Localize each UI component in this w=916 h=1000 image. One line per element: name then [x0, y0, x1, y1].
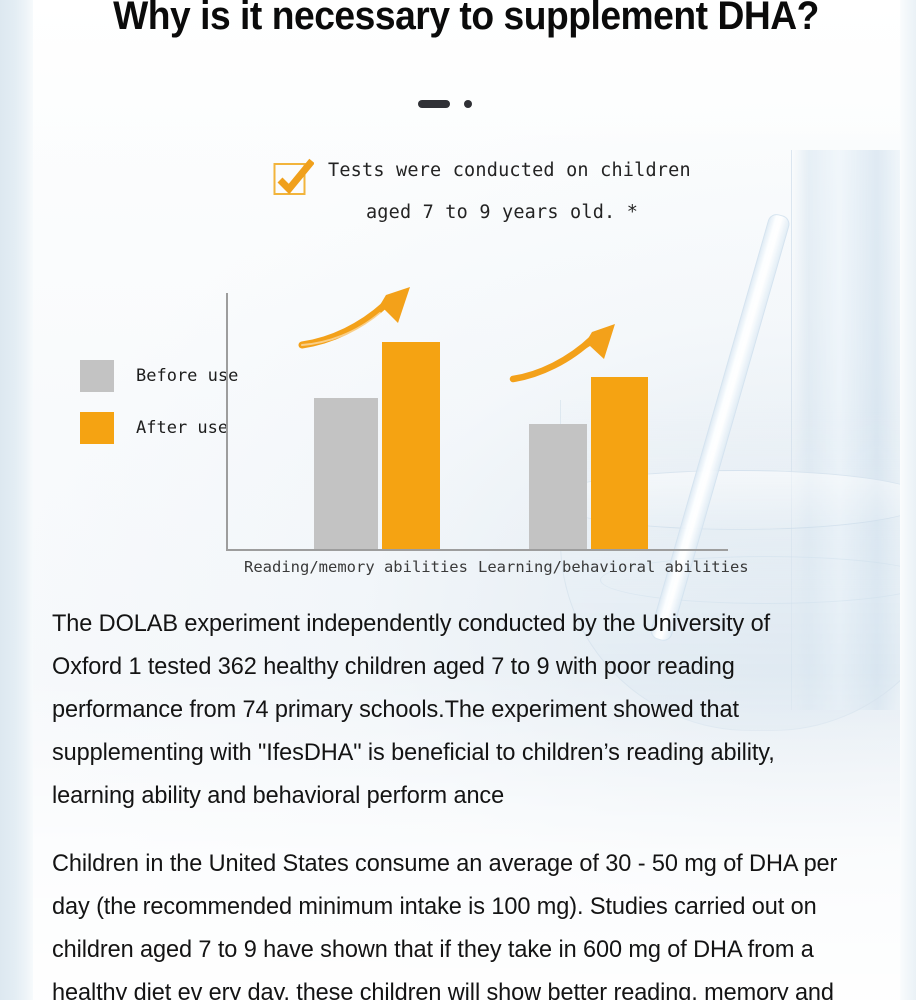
legend-swatch-after-icon [80, 412, 114, 444]
legend-item-before: Before use [80, 350, 238, 402]
paragraph-dolab-experiment: The DOLAB experiment independently condu… [52, 602, 839, 817]
page-title: Why is it necessary to supplement DHA? [63, 0, 868, 39]
legend-label-after: After use [136, 418, 228, 438]
legend-item-after: After use [80, 402, 238, 454]
study-callout-text: Tests were conducted on children aged 7 … [328, 150, 702, 234]
body-copy: The DOLAB experiment independently condu… [52, 602, 872, 1000]
category-label-learning: Learning/behavioral abilities [478, 558, 749, 576]
paragraph-dha-intake: Children in the United States consume an… [52, 842, 839, 1000]
carousel-indicator[interactable] [418, 100, 472, 108]
bar-before-learning [529, 424, 587, 549]
legend-label-before: Before use [136, 366, 238, 386]
page-content: Why is it necessary to supplement DHA? T… [0, 0, 916, 1000]
orange-check-box-icon [272, 158, 314, 200]
product-detail-page: Why is it necessary to supplement DHA? T… [0, 0, 916, 1000]
carousel-dot-active[interactable] [418, 100, 450, 108]
carousel-dot-inactive[interactable] [464, 100, 472, 108]
bar-before-reading [314, 398, 378, 549]
chart-category-labels: Reading/memory abilities Learning/behavi… [226, 558, 736, 584]
study-callout-line-2: aged 7 to 9 years old. * [328, 192, 702, 234]
before-after-bar-chart [226, 293, 730, 551]
chart-x-axis [226, 549, 728, 551]
chart-legend: Before use After use [80, 350, 238, 454]
bar-after-learning [591, 377, 648, 549]
study-callout-line-1: Tests were conducted on children [328, 150, 702, 192]
category-label-reading: Reading/memory abilities [244, 558, 468, 576]
legend-swatch-before-icon [80, 360, 114, 392]
chart-y-axis [226, 293, 228, 551]
bar-after-reading [382, 342, 440, 549]
